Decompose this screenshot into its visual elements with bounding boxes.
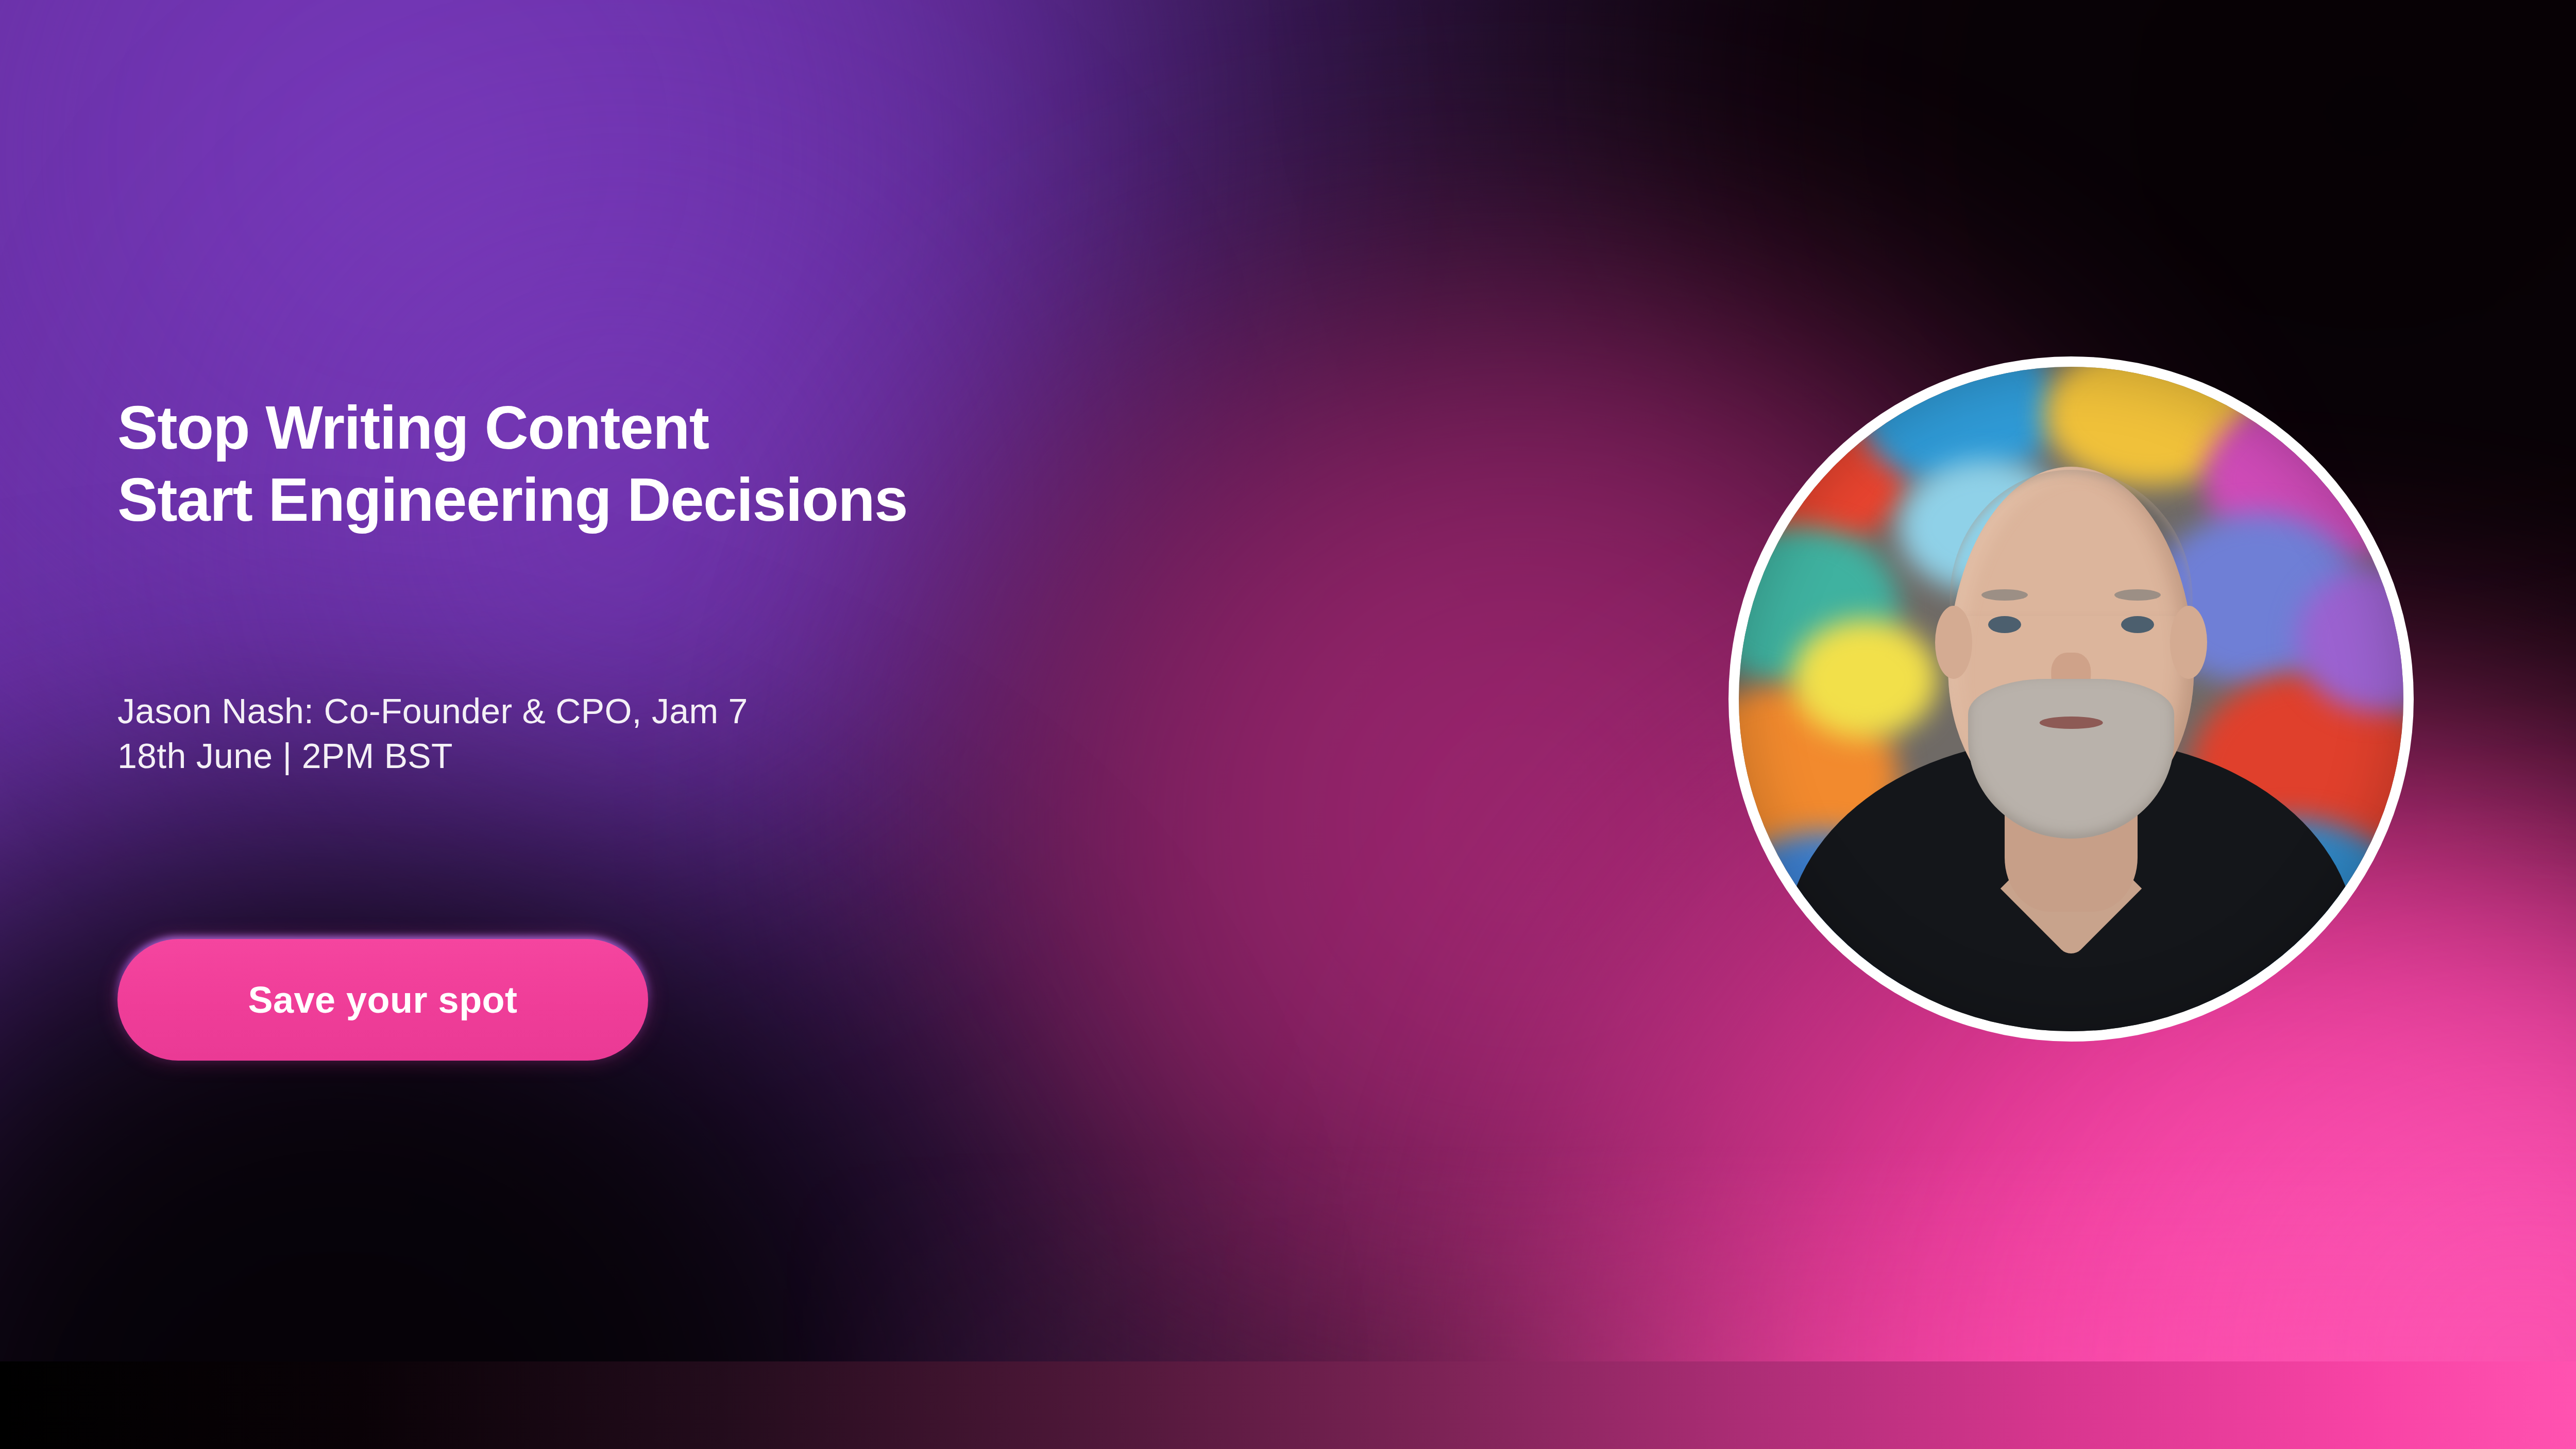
- cta-container: Save your spot: [115, 936, 648, 1061]
- datetime-line: 18th June | 2PM BST: [117, 734, 748, 778]
- speaker-line: Jason Nash: Co-Founder & CPO, Jam 7: [117, 689, 748, 734]
- webinar-promo-banner: Stop Writing Content Start Engineering D…: [0, 0, 2576, 1449]
- page-title: Stop Writing Content Start Engineering D…: [117, 391, 907, 536]
- headline-line-2: Start Engineering Decisions: [117, 464, 907, 536]
- save-your-spot-button[interactable]: Save your spot: [117, 939, 648, 1061]
- avatar-vignette: [1739, 367, 2403, 1031]
- avatar-image: [1739, 367, 2403, 1031]
- banner-content: Stop Writing Content Start Engineering D…: [117, 0, 1612, 1449]
- headline-line-1: Stop Writing Content: [117, 391, 907, 464]
- avatar: [1728, 356, 2414, 1042]
- event-meta: Jason Nash: Co-Founder & CPO, Jam 7 18th…: [117, 689, 748, 778]
